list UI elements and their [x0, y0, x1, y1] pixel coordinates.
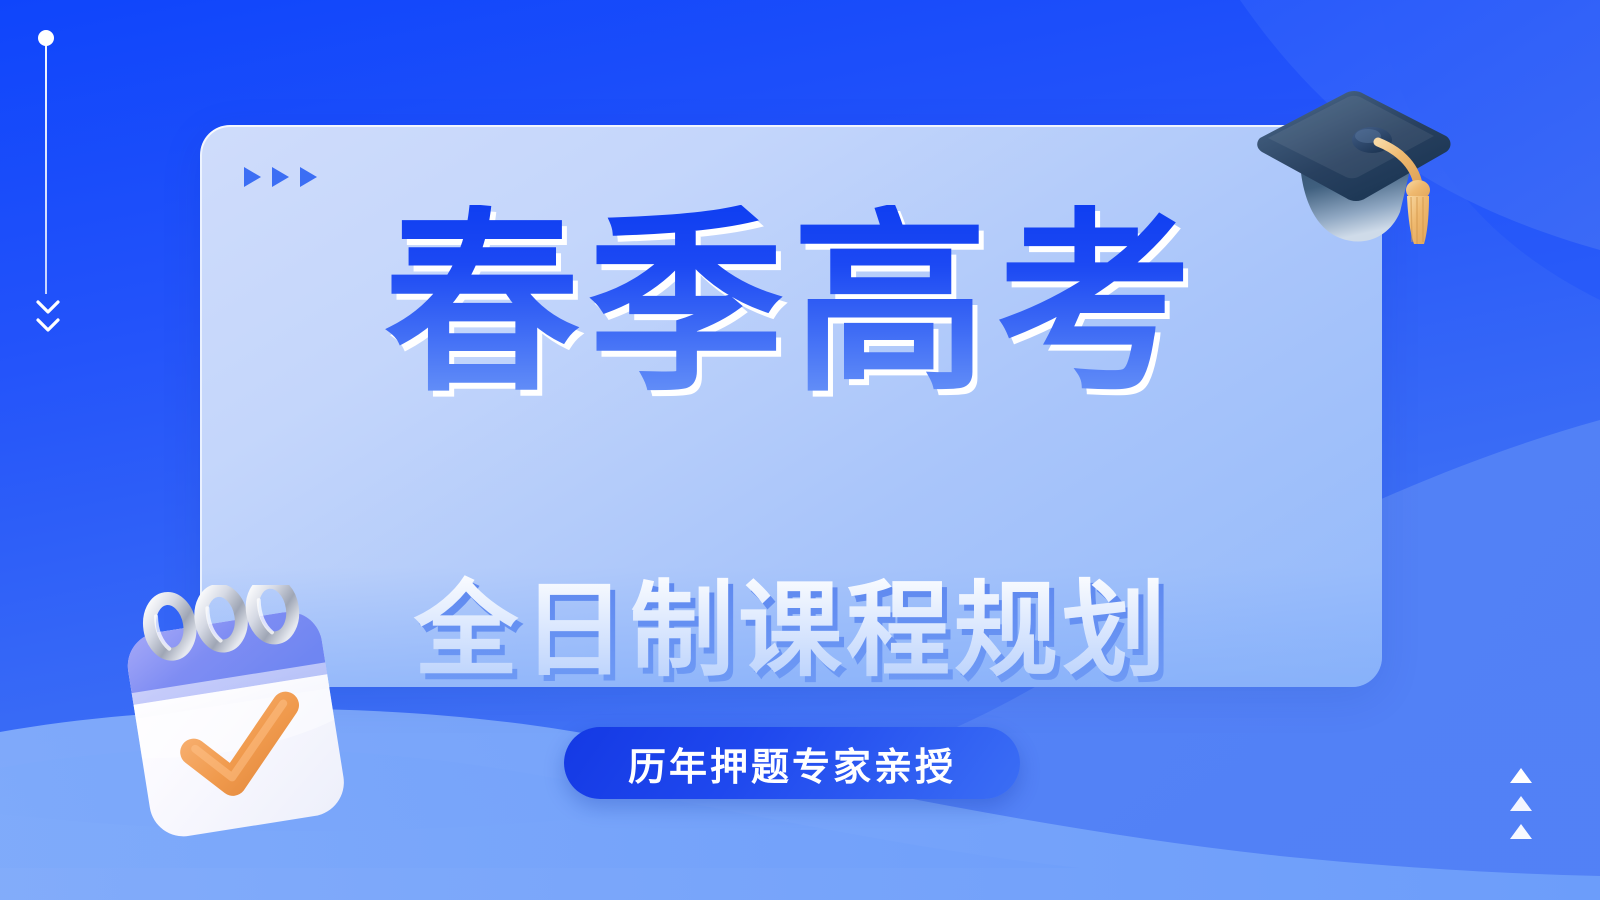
play-arrow-icon-1 — [244, 167, 261, 187]
play-arrow-icon-2 — [272, 167, 289, 187]
cta-row: 历年押题专家亲授 — [202, 727, 1382, 799]
rail-line-icon — [45, 44, 47, 294]
triangle-up-icon-2 — [1510, 796, 1532, 811]
triangle-up-icon-1 — [1510, 768, 1532, 783]
poster-canvas: 春季高考 全日制课程规划 历年押题专家亲授 — [0, 0, 1600, 900]
calendar-check-icon — [112, 585, 362, 855]
left-decorative-rail — [36, 30, 60, 330]
poster-headline: 春季高考 — [202, 205, 1382, 405]
poster-subheadline: 全日制课程规划 — [202, 577, 1382, 686]
play-arrow-icon-3 — [300, 167, 317, 187]
cta-button[interactable]: 历年押题专家亲授 — [564, 727, 1020, 799]
right-triangle-stack — [1510, 768, 1540, 858]
promo-card: 春季高考 全日制课程规划 历年押题专家亲授 — [200, 125, 1382, 687]
chevron-double-down-icon — [34, 298, 62, 344]
graduation-cap-icon — [1248, 78, 1458, 258]
play-arrows-decoration — [244, 167, 317, 187]
triangle-up-icon-3 — [1510, 824, 1532, 839]
